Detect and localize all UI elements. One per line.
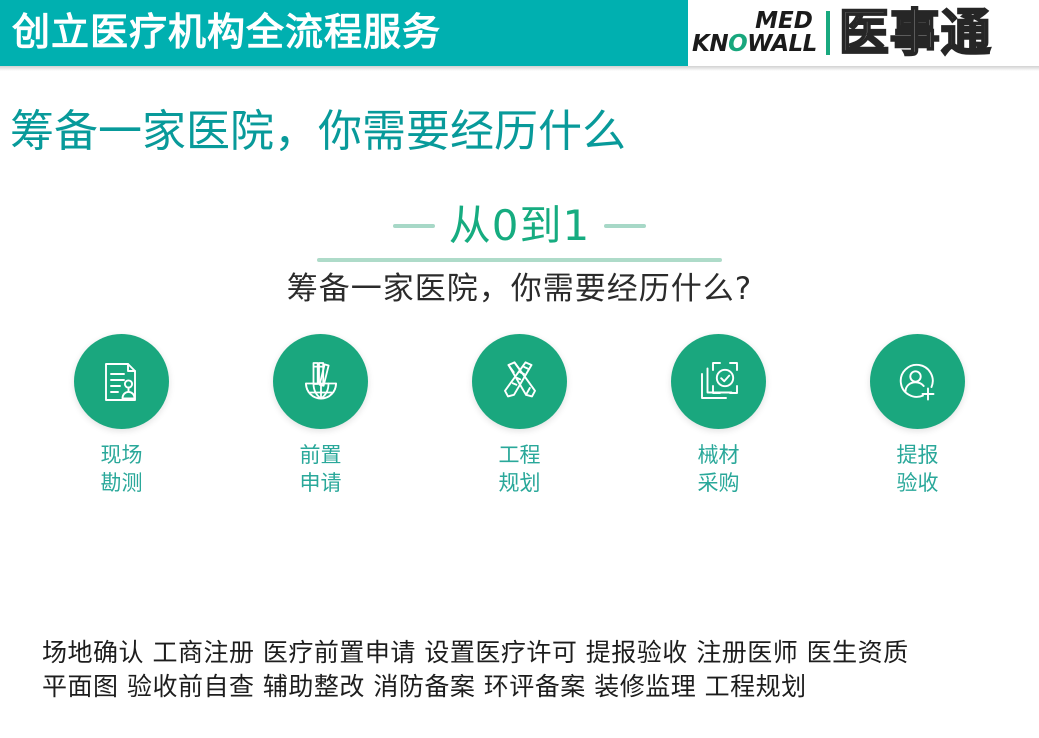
logo-knowall-suffix: WALL: [747, 31, 817, 57]
step-circle: [273, 334, 368, 429]
step-label-line2: 申请: [300, 469, 342, 497]
step-circle: [671, 334, 766, 429]
hero-subtitle: 筹备一家医院，你需要经历什么?: [0, 269, 1039, 309]
service-list: 场地确认 工商注册 医疗前置申请 设置医疗许可 提报验收 注册医师 医生资质 平…: [42, 636, 1002, 704]
logo-knowall-o: O: [728, 31, 747, 57]
process-steps: 现场 勘测 前置 申: [0, 334, 1039, 497]
logo-chinese-name: 医事通: [839, 6, 992, 60]
step-label-line2: 勘测: [101, 469, 143, 497]
step-label: 械材 采购: [698, 441, 740, 497]
logo-divider: [826, 11, 830, 55]
layers-check-icon: [694, 357, 744, 407]
user-add-icon: [893, 357, 943, 407]
step-label: 提报 验收: [897, 441, 939, 497]
step-label-line2: 采购: [698, 469, 740, 497]
logo-knowall-prefix: KN: [692, 31, 728, 57]
service-list-line-1: 场地确认 工商注册 医疗前置申请 设置医疗许可 提报验收 注册医师 医生资质: [42, 636, 1002, 670]
pencil-ruler-icon: [495, 357, 545, 407]
step-label-line1: 提报: [897, 443, 939, 467]
hero-divider-rule: [317, 258, 722, 262]
files-basket-icon: [296, 357, 346, 407]
hero-dash-right-icon: [604, 224, 646, 228]
logo-latin-text: MED KNOWALL: [692, 10, 823, 56]
step-label: 现场 勘测: [101, 441, 143, 497]
step-label-line1: 工程: [499, 443, 541, 467]
step-item-engineering-planning[interactable]: 工程 规划: [472, 334, 568, 497]
service-list-line-2: 平面图 验收前自查 辅助整改 消防备案 环评备案 装修监理 工程规划: [42, 670, 1002, 704]
logo-knowall-text: KNOWALL: [692, 33, 817, 56]
hero-badge-text: 从0到1: [449, 203, 590, 249]
step-label-line1: 前置: [300, 443, 342, 467]
step-circle: [74, 334, 169, 429]
step-circle: [870, 334, 965, 429]
step-label-line2: 规划: [499, 469, 541, 497]
step-label-line1: 械材: [698, 443, 740, 467]
step-item-equipment-procurement[interactable]: 械材 采购: [671, 334, 767, 497]
step-label-line2: 验收: [897, 469, 939, 497]
page-title: 筹备一家医院，你需要经历什么: [10, 104, 626, 160]
step-item-pre-application[interactable]: 前置 申请: [273, 334, 369, 497]
step-label: 工程 规划: [499, 441, 541, 497]
document-stamp-icon: [97, 357, 147, 407]
step-label-line1: 现场: [101, 443, 143, 467]
step-item-site-survey[interactable]: 现场 勘测: [74, 334, 170, 497]
step-label: 前置 申请: [300, 441, 342, 497]
header-shadow: [0, 66, 1039, 71]
step-circle: [472, 334, 567, 429]
step-item-submission-acceptance[interactable]: 提报 验收: [870, 334, 966, 497]
hero-section: 从0到1 筹备一家医院，你需要经历什么?: [0, 200, 1039, 309]
hero-badge: 从0到1: [0, 200, 1039, 252]
brand-logo: MED KNOWALL 医事通: [692, 0, 1039, 66]
page-header: 创立医疗机构全流程服务 MED KNOWALL 医事通: [0, 0, 1039, 70]
logo-med-text: MED: [755, 10, 817, 33]
hero-dash-left-icon: [393, 224, 435, 228]
header-title: 创立医疗机构全流程服务: [12, 7, 441, 57]
